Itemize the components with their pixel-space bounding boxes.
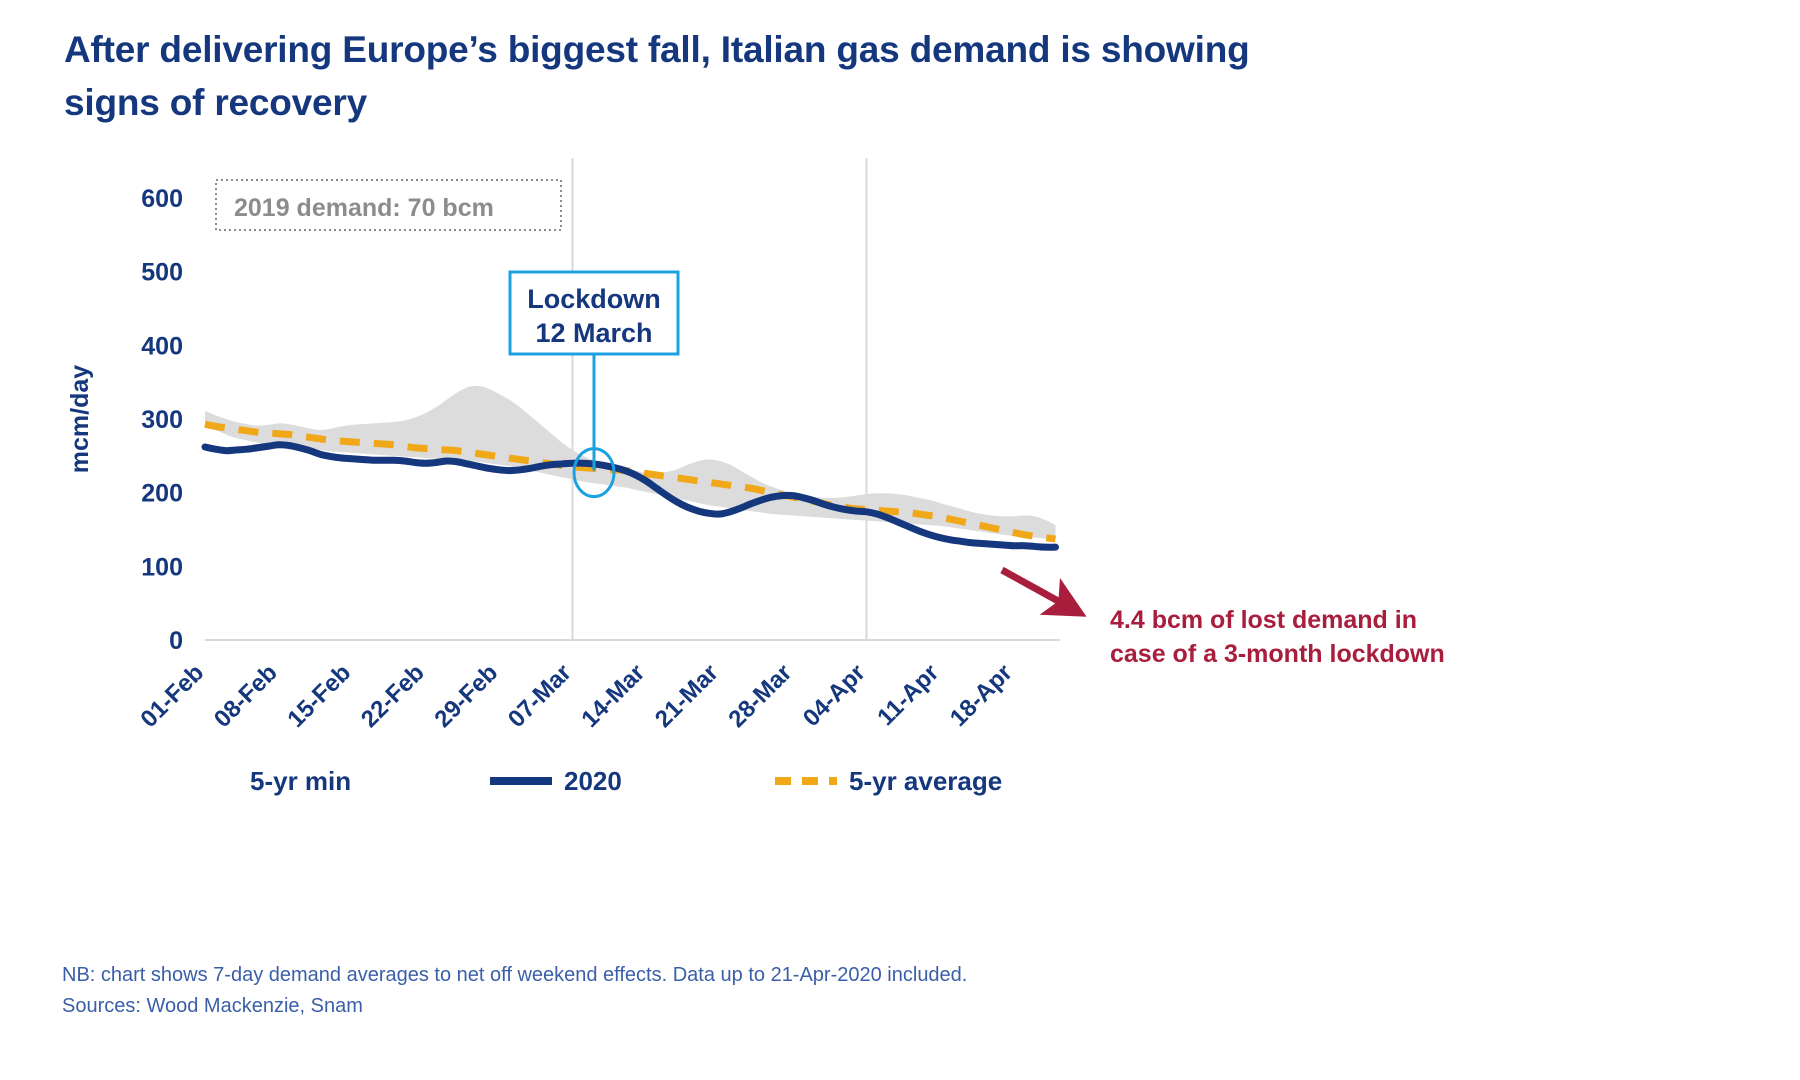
y-axis-tick-label: 200 [141,480,183,508]
page-title-line-1: After delivering Europe’s biggest fall, … [64,24,1544,77]
y-axis-tick-label: 500 [141,259,183,287]
y-axis-tick-label: 600 [141,185,183,213]
footnote-line-2: Sources: Wood Mackenzie, Snam [62,991,1462,1022]
page-title-line-2: signs of recovery [64,77,1544,130]
lost-demand-annotation-line-1: 4.4 bcm of lost demand in [1110,606,1417,634]
page-title: After delivering Europe’s biggest fall, … [64,24,1544,129]
lost-demand-annotation-line-2: case of a 3-month lockdown [1110,640,1445,668]
legend-label: 5-yr min [250,766,351,796]
y-axis-tick-label: 100 [141,553,183,581]
series-line-2020 [205,445,1056,547]
y-axis-title: mcm/day [66,365,94,473]
x-axis-tick-label: 04-Apr [798,659,871,732]
lost-demand-arrow-icon [1002,570,1078,612]
legend-item-5-yr-min[interactable]: 5-yr min [250,766,351,796]
x-axis-tick-label: 28-Mar [723,659,797,733]
legend-item-5-yr-average[interactable]: 5-yr average [775,766,1002,796]
footnote: NB: chart shows 7-day demand averages to… [62,960,1462,1022]
lockdown-callout-line-1: Lockdown [527,284,661,314]
lockdown-callout-line-2: 12 March [535,318,652,348]
x-axis-tick-label: 11-Apr [872,659,944,731]
chart-figure: 0100200300400500600mcm/day01-Feb08-Feb15… [0,150,1800,910]
y-axis-tick-label: 0 [169,627,183,655]
x-axis-tick-label: 01-Feb [135,659,209,733]
footnote-line-1: NB: chart shows 7-day demand averages to… [62,960,1462,991]
x-axis-tick-label: 18-Apr [945,659,1018,732]
y-axis-tick-label: 300 [141,406,183,434]
x-axis-tick-label: 15-Feb [282,659,356,733]
y-axis-tick-label: 400 [141,332,183,360]
legend-item-2020[interactable]: 2020 [490,766,622,796]
x-axis-tick-label: 29-Feb [429,659,503,733]
x-axis-tick-label: 14-Mar [576,659,650,733]
legend-label: 2020 [564,766,622,796]
x-axis-tick-label: 21-Mar [650,659,724,733]
note-box-label: 2019 demand: 70 bcm [234,194,494,222]
legend-label: 5-yr average [849,766,1002,796]
line-chart: 0100200300400500600mcm/day01-Feb08-Feb15… [0,150,1800,910]
x-axis-tick-label: 22-Feb [356,659,430,733]
x-axis-tick-label: 07-Mar [503,659,577,733]
x-axis-tick-label: 08-Feb [209,659,283,733]
